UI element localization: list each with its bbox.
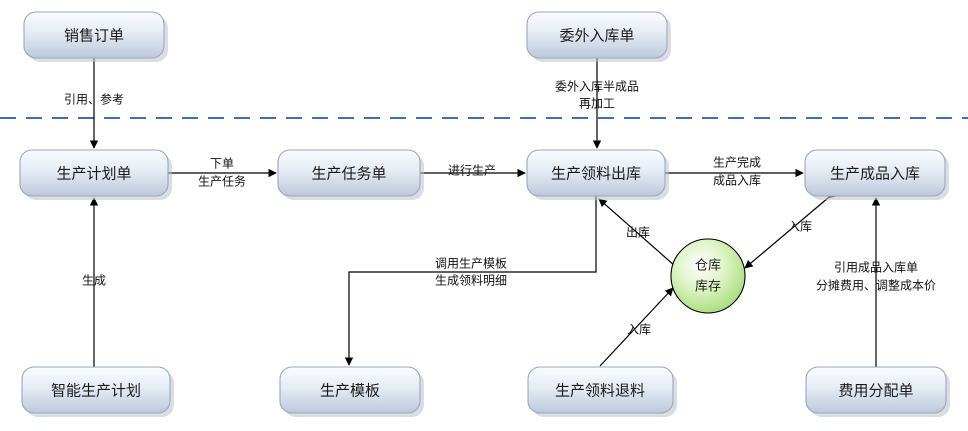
node-production-task[interactable]: 生产任务单 [278,150,424,200]
edge-material-return-to-warehouse: 入库 [600,288,673,366]
node-outsource-inbound[interactable]: 委外入库单 [527,12,671,62]
node-cost-allocation[interactable]: 费用分配单 [806,367,950,417]
edge-label: 生产任务 [198,174,246,189]
edge-label: 入库 [788,219,812,234]
edge-label: 引用成品入库单 [834,260,918,275]
edge-warehouse-to-material-out: 出库 [599,199,675,266]
node-material-return[interactable]: 生产领料退料 [528,367,677,417]
node-warehouse-stock[interactable]: 仓库 库存 [671,239,745,313]
node-label: 生产任务单 [311,165,386,183]
edge-label: 入库 [627,322,651,337]
edge-label: 引用、参考 [64,92,124,107]
store-label-line2: 库存 [695,279,721,295]
flowchart-canvas: 引用、参考 委外入库半成品 再加工 下单 生产任务 进行生产 生产完成 成品入库… [0,0,968,431]
edge-label: 成品入库 [713,173,761,188]
node-sales-order[interactable]: 销售订单 [24,12,168,62]
edge-smart-plan-to-prod-plan: 生成 [82,198,106,367]
edge-finished-in-to-warehouse: 入库 [745,198,828,268]
node-label: 生产领料出库 [551,165,641,183]
node-label: 销售订单 [64,27,124,45]
store-label-line1: 仓库 [695,258,721,274]
edge-prod-plan-to-prod-task: 下单 生产任务 [168,157,276,189]
edge-material-out-to-finished-in: 生产完成 成品入库 [665,155,803,188]
edge-label: 生成 [82,274,106,288]
edge-prod-task-to-material-out: 进行生产 [420,164,525,178]
edge-label: 下单 [210,157,234,171]
node-finished-goods-in[interactable]: 生产成品入库 [805,150,949,200]
node-production-plan[interactable]: 生产计划单 [20,150,172,200]
edge-material-out-to-prod-template: 调用生产模板 生成领料明细 [349,196,596,365]
edge-label: 进行生产 [448,164,496,178]
node-label: 生产成品入库 [830,165,920,183]
edge-label: 出库 [626,225,650,240]
edge-label: 生产完成 [713,155,761,170]
edge-label: 再加工 [579,97,615,111]
edge-outsource-to-material-out: 委外入库半成品 再加工 [555,58,639,148]
node-smart-production-plan[interactable]: 智能生产计划 [22,367,174,417]
node-label: 生产模板 [320,382,380,400]
node-label: 生产领料退料 [555,382,645,400]
node-material-issue-out[interactable]: 生产领料出库 [527,150,669,200]
node-label: 委外入库单 [559,27,634,45]
edge-sales-order-to-prod-plan: 引用、参考 [64,58,124,148]
edge-cost-allocation-to-finished-in: 引用成品入库单 分摊费用、调整成本价 [816,198,936,367]
edge-label: 生成领料明细 [435,274,507,288]
edge-label: 分摊费用、调整成本价 [816,278,936,293]
edge-label: 调用生产模板 [435,257,507,271]
node-label: 生产计划单 [56,165,131,183]
node-label: 费用分配单 [838,382,913,400]
edge-label: 委外入库半成品 [555,79,639,94]
node-label: 智能生产计划 [51,382,141,400]
node-production-template[interactable]: 生产模板 [280,367,424,417]
